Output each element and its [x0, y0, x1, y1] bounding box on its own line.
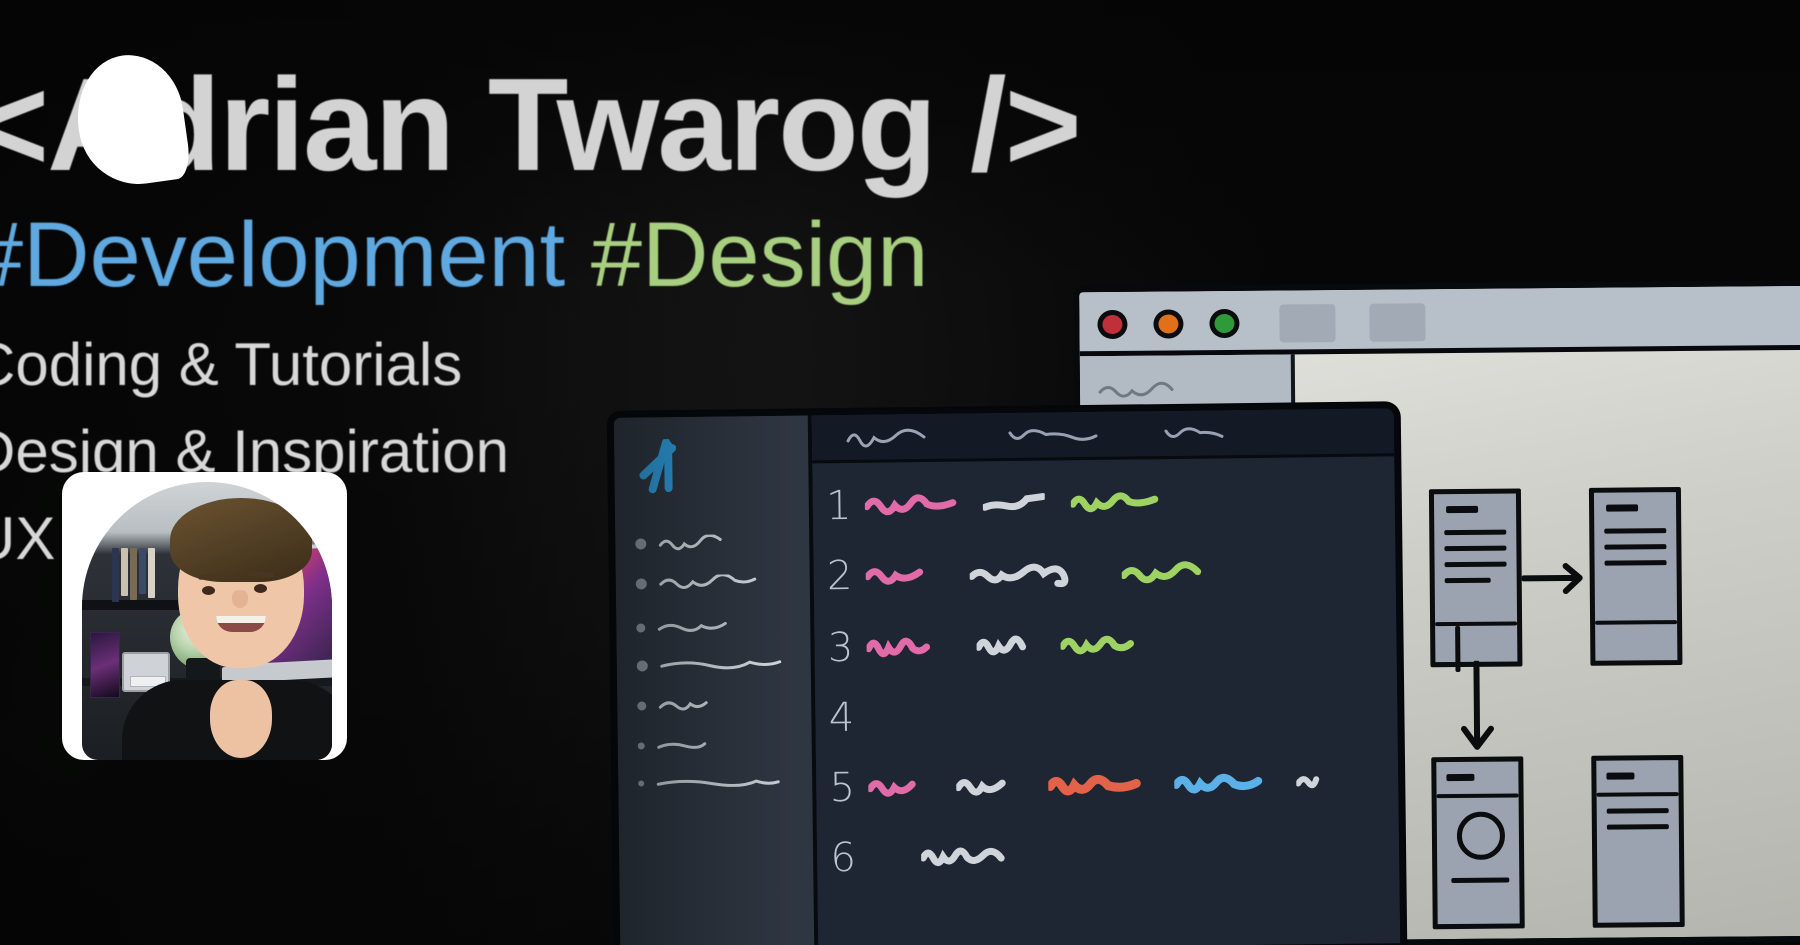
token-squiggle-pink — [866, 636, 950, 659]
presenter-hand — [210, 680, 272, 758]
browser-titlebar — [1079, 286, 1800, 357]
sidebar-item-4[interactable] — [637, 656, 792, 674]
line-number: 6 — [817, 835, 870, 882]
browser-tab-2[interactable] — [1369, 303, 1425, 341]
bullet-icon — [638, 780, 644, 786]
sidebar-item-5[interactable] — [637, 696, 734, 713]
line-number: 4 — [815, 695, 868, 742]
token-squiggle-green — [1071, 491, 1159, 514]
code-tokens — [868, 770, 1320, 800]
minimize-button[interactable] — [1153, 309, 1183, 338]
line-number: 5 — [816, 765, 869, 812]
sidebar-label-squiggle — [656, 774, 784, 792]
editor-tab-3[interactable] — [1164, 422, 1260, 447]
flow-node-top-left — [1429, 488, 1523, 667]
token-squiggle-white — [921, 845, 1013, 868]
code-line-4: 4 — [815, 678, 1398, 751]
poster — [90, 632, 120, 698]
flow-arrow-right — [1522, 558, 1594, 599]
flow-node-top-right — [1589, 487, 1683, 666]
sidebar-item-3[interactable] — [636, 618, 749, 635]
flow-node-bottom-right — [1591, 755, 1684, 928]
bullet-icon — [638, 742, 645, 749]
browser-tab-1[interactable] — [1279, 304, 1335, 342]
tag-design: #Design — [591, 204, 929, 306]
code-tokens — [869, 845, 1013, 869]
token-squiggle-blue — [1174, 771, 1270, 796]
code-line-3: 3 — [814, 608, 1397, 681]
maximize-button[interactable] — [1209, 309, 1239, 338]
token-squiggle-green — [1122, 560, 1222, 583]
sidebar-label-squiggle — [658, 696, 734, 713]
tag-development: #Development — [0, 204, 565, 306]
bullet-icon — [637, 660, 648, 671]
close-button[interactable] — [1097, 310, 1127, 339]
presenter-webcam — [62, 472, 347, 760]
sidebar-label-squiggle — [657, 618, 749, 635]
token-squiggle-white — [956, 775, 1022, 798]
token-squiggle-white-short — [1296, 771, 1320, 793]
code-line-6: 6 — [817, 818, 1400, 891]
bullet-icon — [636, 623, 645, 632]
webcam-photo — [62, 472, 347, 760]
sidebar-label-squiggle — [660, 656, 792, 674]
line-number: 3 — [814, 625, 867, 672]
tag-row: #Development #Design — [0, 207, 1080, 304]
bullet-icon — [637, 701, 646, 710]
token-squiggle-white — [976, 635, 1034, 658]
flow-arrow-down — [1450, 661, 1511, 760]
sidebar-label-squiggle — [657, 736, 727, 753]
sidebar-item-7[interactable] — [638, 774, 784, 792]
code-line-5: 5 — [816, 748, 1399, 821]
token-squiggle-orange — [1048, 772, 1148, 797]
token-squiggle-green — [1060, 633, 1144, 656]
token-squiggle-pink — [868, 776, 930, 799]
subline-coding: Coding & Tutorials — [0, 321, 1080, 408]
presenter-hair — [170, 498, 312, 582]
flow-node-bottom-left — [1431, 756, 1524, 929]
sidebar-item-6[interactable] — [638, 736, 727, 753]
channel-banner: 1 2 — [0, 0, 1800, 945]
code-tokens — [866, 633, 1144, 658]
books — [112, 548, 155, 602]
